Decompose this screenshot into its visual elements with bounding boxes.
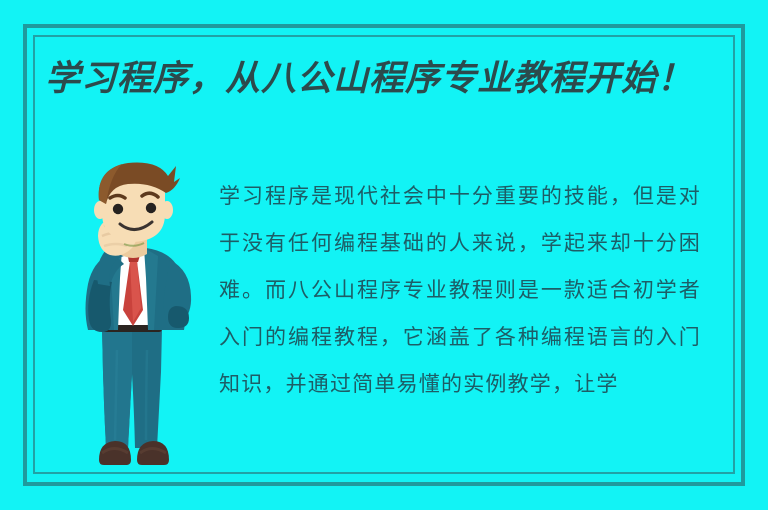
poster-canvas: 学习程序，从八公山程序专业教程开始！	[0, 0, 768, 510]
thinking-businessman-illustration	[58, 160, 208, 474]
page-title: 学习程序，从八公山程序专业教程开始！	[45, 55, 727, 103]
body-paragraph: 学习程序是现代社会中十分重要的技能，但是对于没有任何编程基础的人来说，学起来却十…	[219, 173, 701, 408]
poster-content: 学习程序，从八公山程序专业教程开始！	[33, 35, 735, 474]
